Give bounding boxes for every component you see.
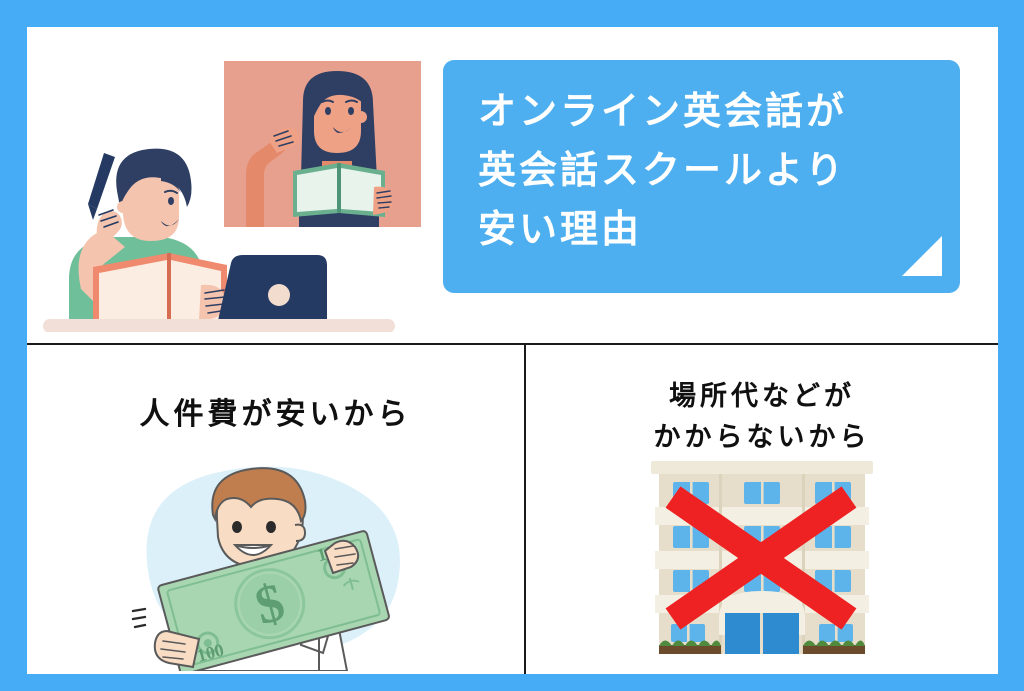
hero-title-box: オンライン英会話が 英会話スクールより 安い理由 [443, 60, 960, 293]
page-border: オンライン英会話が 英会話スクールより 安い理由 人件費が安いから [0, 0, 1024, 691]
crossed-out-building-illustration [526, 455, 998, 674]
panel-no-venue-cost-heading: 場所代などが かからないから [526, 376, 998, 458]
panel-no-venue-cost: 場所代などが かからないから [526, 345, 998, 674]
panel-labor-cost-heading: 人件費が安いから [27, 394, 524, 436]
video-call-window [224, 61, 421, 227]
desk [43, 319, 395, 332]
infographic-canvas: オンライン英会話が 英会話スクールより 安い理由 人件費が安いから [27, 27, 998, 674]
man-holding-money-illustration: $ 100 100 [27, 453, 524, 674]
page-title: オンライン英会話が 英会話スクールより 安い理由 [478, 82, 948, 259]
hero-section: オンライン英会話が 英会話スクールより 安い理由 [27, 27, 998, 343]
motion-lines [133, 609, 145, 627]
online-english-lesson-illustration [41, 57, 441, 332]
panel-labor-cost: 人件費が安いから [27, 345, 524, 674]
